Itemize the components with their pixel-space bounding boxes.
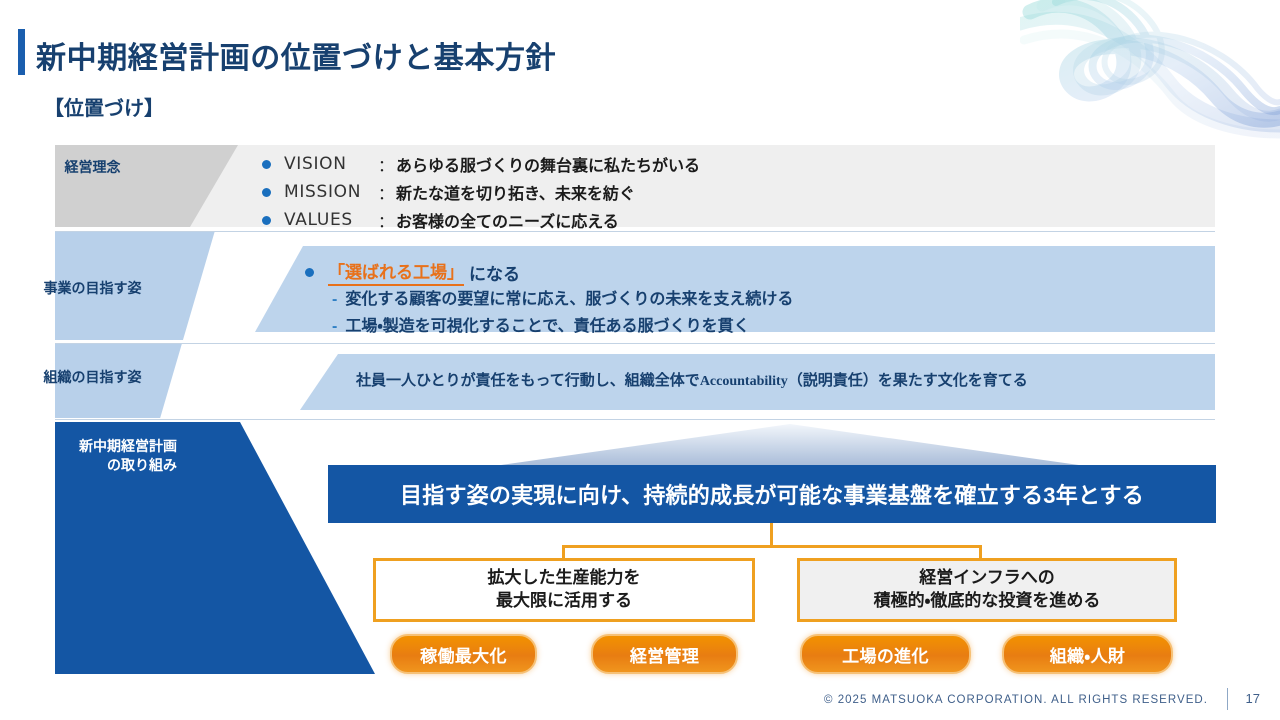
band-label-business-vision: 事業の目指す姿 (0, 279, 185, 298)
band-label-midterm-line1: 新中期経営計画 (0, 437, 177, 456)
bullet-dot-icon (305, 268, 314, 277)
philosophy-list: VISION ： あらゆる服づくりの舞台裏に私たちがいる MISSION ： 新… (262, 152, 700, 236)
connector-left-drop (562, 545, 565, 559)
footer-copyright: © 2025 MATSUOKA CORPORATION. ALL RIGHTS … (824, 694, 1208, 706)
business-vision-highlight: 「選ばれる工場」 (328, 258, 464, 286)
philosophy-value: お客様の全てのニーズに応える (396, 208, 619, 232)
dash-icon: - (332, 291, 337, 308)
strategy-box-right-line2: 積極的・徹底的な投資を進める (874, 590, 1101, 613)
title-accent-bar (18, 29, 25, 75)
bullet-dot-icon (262, 188, 271, 197)
strategy-box-left: 拡大した生産能力を 最大限に活用する (373, 558, 755, 622)
band-label-org-vision: 組織の目指す姿 (0, 368, 185, 387)
pill-operation-maximization: 稼働最大化 (390, 634, 537, 674)
list-item: MISSION ： 新たな道を切り拓き、未来を紡ぐ (262, 180, 700, 204)
band-label-philosophy: 経営理念 (0, 158, 185, 177)
philosophy-separator: ： (378, 152, 394, 176)
connector-right-drop (979, 545, 982, 559)
business-vision-bullet: -工場・製造を可視化することで、責任ある服づくりを貫く (332, 312, 750, 336)
page-number: 17 (1246, 691, 1260, 706)
bullet-dot-icon (262, 216, 271, 225)
org-vision-text-en: Accountability (700, 374, 788, 389)
list-item: VALUES ： お客様の全てのニーズに応える (262, 208, 700, 232)
philosophy-key: VISION (284, 154, 378, 174)
philosophy-value: 新たな道を切り拓き、未来を紡ぐ (396, 180, 635, 204)
strategy-box-right-line1: 経営インフラへの (874, 567, 1101, 590)
strategy-box-left-line1: 拡大した生産能力を (488, 567, 641, 590)
philosophy-separator: ： (378, 180, 394, 204)
business-vision-bullet-text: 工場・製造を可視化することで、責任ある服づくりを貫く (345, 318, 749, 335)
philosophy-separator: ： (378, 208, 394, 232)
strategy-box-left-line2: 最大限に活用する (488, 590, 641, 613)
ribbon-decoration (1020, 0, 1280, 140)
pill-factory-evolution: 工場の進化 (800, 634, 971, 674)
business-vision-headline: 「選ばれる工場」 になる (305, 258, 520, 286)
philosophy-key: MISSION (284, 182, 378, 202)
main-banner: 目指す姿の実現に向け、持続的成長が可能な事業基盤を確立する3年とする (328, 465, 1216, 523)
band-label-midterm-line2: の取り組み (0, 456, 177, 475)
connector-bar (562, 545, 982, 548)
pill-management: 経営管理 (591, 634, 738, 674)
strategy-box-right: 経営インフラへの 積極的・徹底的な投資を進める (797, 558, 1177, 622)
business-vision-bullet: -変化する顧客の要望に常に応え、服づくりの未来を支え続ける (332, 285, 793, 309)
philosophy-value: あらゆる服づくりの舞台裏に私たちがいる (396, 152, 700, 176)
business-vision-headline-tail: になる (469, 260, 520, 285)
org-vision-text: 社員一人ひとりが責任をもって行動し、組織全体でAccountability（説明… (356, 369, 1028, 390)
band-label-midterm-plan: 新中期経営計画 の取り組み (0, 437, 185, 475)
pill-organization-people: 組織・人財 (1002, 634, 1173, 674)
org-vision-text-b: （説明責任）を果たす文化を育てる (788, 372, 1028, 389)
connector-stem (770, 523, 773, 547)
list-item: VISION ： あらゆる服づくりの舞台裏に私たちがいる (262, 152, 700, 176)
org-vision-text-a: 社員一人ひとりが責任をもって行動し、組織全体で (356, 372, 700, 389)
bullet-dot-icon (262, 160, 271, 169)
dash-icon: - (332, 318, 337, 335)
philosophy-key: VALUES (284, 210, 378, 230)
footer-divider (1227, 688, 1228, 710)
business-vision-bullet-text: 変化する顧客の要望に常に応え、服づくりの未来を支え続ける (345, 291, 793, 308)
row-separator-2 (55, 343, 1215, 344)
page-title: 新中期経営計画の位置づけと基本方針 (36, 33, 556, 77)
row-separator-3 (55, 419, 1215, 420)
section-subtitle: 【位置づけ】 (44, 92, 164, 121)
slide-canvas: 新中期経営計画の位置づけと基本方針 【位置づけ】 経営理念 事業の目指す姿 組織… (0, 0, 1280, 720)
